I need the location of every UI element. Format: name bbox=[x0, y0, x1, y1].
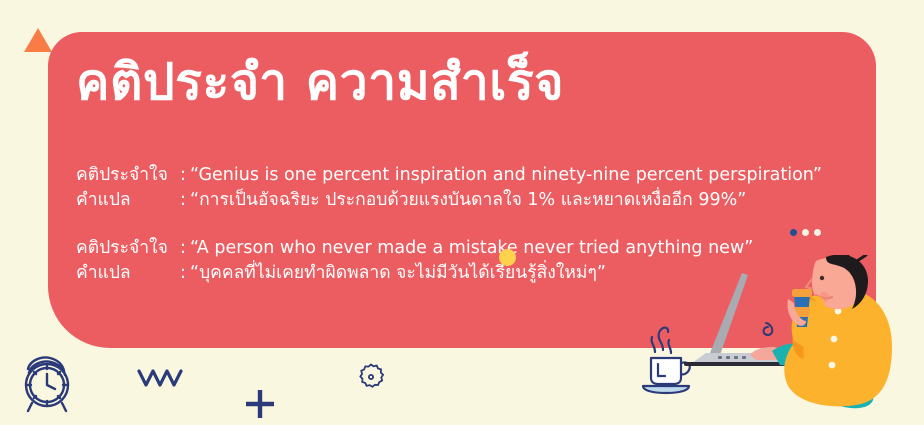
quote-translation-colon: : bbox=[180, 188, 190, 213]
quote-motto-text: “A person who never made a mistake never… bbox=[190, 236, 753, 261]
quote-block-1: คติประจำใจ : “Genius is one percent insp… bbox=[76, 163, 822, 214]
shirt-button bbox=[829, 362, 836, 369]
dot-blue-icon bbox=[790, 229, 797, 236]
page-title: คติประจำ ความสำเร็จ bbox=[76, 54, 564, 110]
quote-motto-row: คติประจำใจ : “Genius is one percent insp… bbox=[76, 163, 822, 188]
quote-translation-label: คำแปล bbox=[76, 261, 180, 286]
poster-canvas: คติประจำ ความสำเร็จ คติประจำใจ : “Genius… bbox=[0, 0, 924, 425]
quote-block-2: คติประจำใจ : “A person who never made a … bbox=[76, 236, 753, 287]
plus-icon bbox=[243, 387, 277, 421]
quote-translation-text: “การเป็นอัจฉริยะ ประกอบด้วยแรงบันดาลใจ 1… bbox=[190, 188, 746, 213]
quote-translation-row: คำแปล : “บุคคลที่ไม่เคยทำผิดพลาด จะไม่มี… bbox=[76, 261, 753, 286]
shirt-button bbox=[831, 336, 838, 343]
laptop-screen bbox=[710, 273, 748, 355]
dot-yellow-icon bbox=[499, 249, 516, 266]
person-with-laptop-illustration bbox=[676, 255, 924, 425]
eye bbox=[820, 276, 824, 280]
zigzag-icon bbox=[136, 367, 188, 389]
quote-motto-label: คติประจำใจ bbox=[76, 236, 180, 261]
dot-cream-icon bbox=[814, 229, 821, 236]
swirl-icon bbox=[764, 323, 773, 335]
quote-motto-colon: : bbox=[180, 163, 190, 188]
quote-translation-row: คำแปล : “การเป็นอัจฉริยะ ประกอบด้วยแรงบั… bbox=[76, 188, 822, 213]
quote-translation-colon: : bbox=[180, 261, 190, 286]
nose bbox=[806, 279, 813, 289]
quote-translation-label: คำแปล bbox=[76, 188, 180, 213]
gear-icon bbox=[356, 362, 386, 392]
triangle-icon bbox=[24, 28, 52, 52]
quote-motto-colon: : bbox=[180, 236, 190, 261]
quote-motto-label: คติประจำใจ bbox=[76, 163, 180, 188]
quote-motto-text: “Genius is one percent inspiration and n… bbox=[190, 163, 822, 188]
cup-lid bbox=[792, 289, 812, 297]
dot-cream-icon bbox=[802, 229, 809, 236]
dots-decoration bbox=[790, 229, 821, 236]
quote-motto-row: คติประจำใจ : “A person who never made a … bbox=[76, 236, 753, 261]
quote-translation-text: “บุคคลที่ไม่เคยทำผิดพลาด จะไม่มีวันได้เร… bbox=[190, 261, 606, 286]
alarm-clock-icon bbox=[14, 352, 80, 414]
